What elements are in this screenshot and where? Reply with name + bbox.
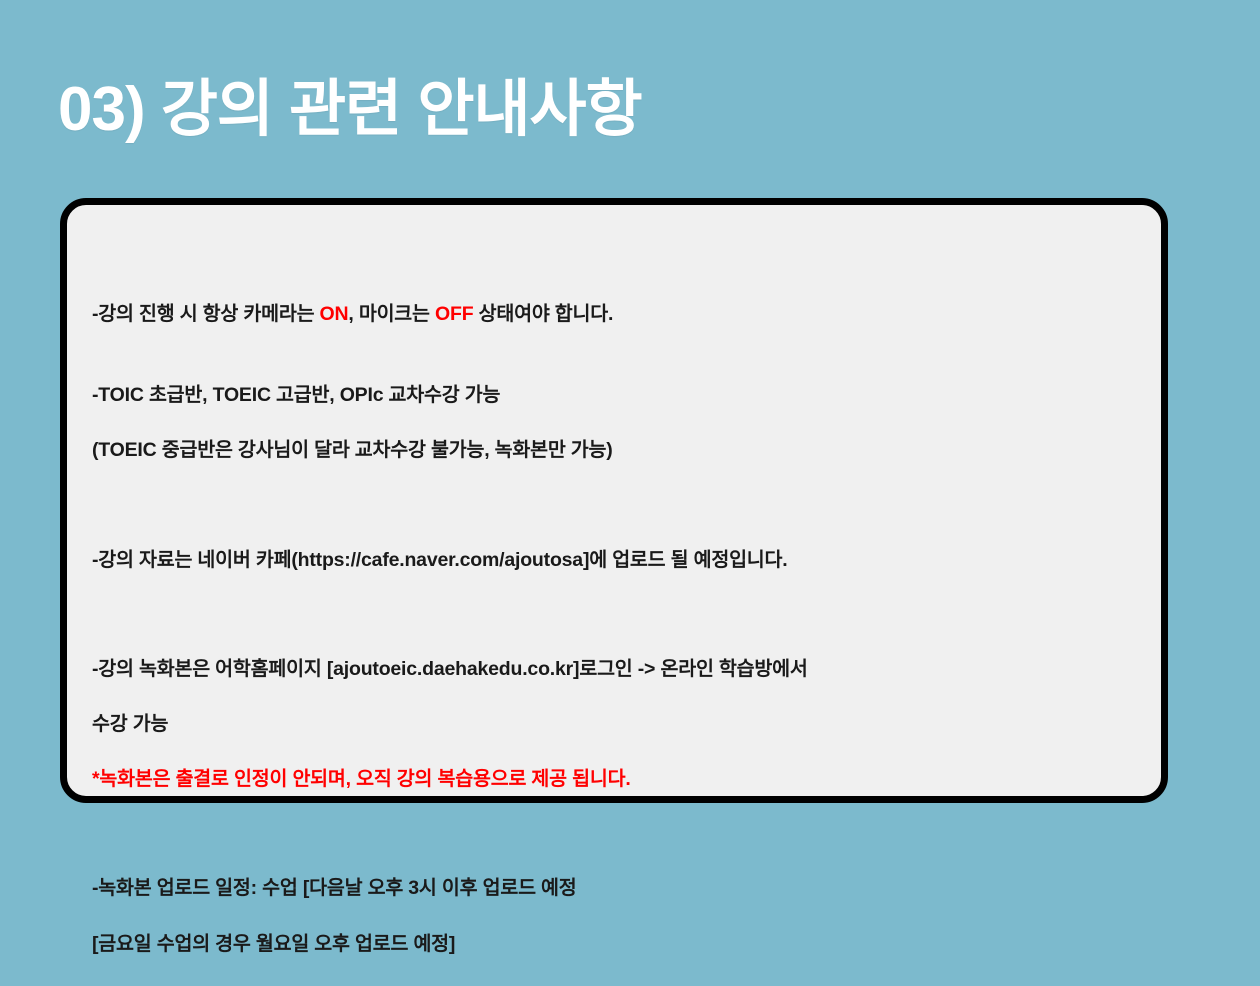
status-badge-on: ON [320,303,349,325]
paragraph-line: [금요일 수업의 경우 월요일 오후 업로드 예정] [92,931,1149,959]
recording-warning-note: *녹화본은 출결로 인정이 안되며, 오직 강의 복습용으로 제공 됩니다. [92,766,1149,794]
text-segment: 상태여야 합니다. [473,303,613,325]
recording-site-url-line: -강의 녹화본은 어학홈페이지 [ajoutoeic.daehakedu.co.… [92,656,1149,684]
naver-cafe-url-line: -강의 자료는 네이버 카페(https://cafe.naver.com/aj… [92,547,1149,575]
paragraph-line: -녹화본 업로드 일정: 수업 [다음날 오후 3시 이후 업로드 예정 [92,875,1149,903]
page-title: 03) 강의 관련 안내사항 [58,76,642,144]
slide-root: 03) 강의 관련 안내사항 -강의 진행 시 항상 카메라는 ON, 마이크는… [0,0,1260,891]
notice-card: -강의 진행 시 항상 카메라는 ON, 마이크는 OFF 상태여야 합니다. … [60,198,1168,803]
text-segment: -강의 진행 시 항상 카메라는 [92,303,320,325]
paragraph-camera-mic-rule: -강의 진행 시 항상 카메라는 ON, 마이크는 OFF 상태여야 합니다. [92,273,1149,328]
status-badge-off: OFF [435,303,473,325]
paragraph-recording-access: -강의 녹화본은 어학홈페이지 [ajoutoeic.daehakedu.co.… [92,628,1149,822]
paragraph-cross-enrollment: -TOIC 초급반, TOEIC 고급반, OPIc 교차수강 가능 (TOEI… [92,354,1149,492]
text-segment: , 마이크는 [348,303,435,325]
paragraph-line: -TOIC 초급반, TOEIC 고급반, OPIc 교차수강 가능 [92,382,1149,410]
paragraph-line: (TOEIC 중급반은 강사님이 달라 교차수강 불가능, 녹화본만 가능) [92,437,1149,465]
notice-card-body: -강의 진행 시 항상 카메라는 ON, 마이크는 OFF 상태여야 합니다. … [92,273,1149,986]
paragraph-materials-cafe: -강의 자료는 네이버 카페(https://cafe.naver.com/aj… [92,519,1149,602]
paragraph-line: 수강 가능 [92,711,1149,739]
paragraph-upload-schedule: -녹화본 업로드 일정: 수업 [다음날 오후 3시 이후 업로드 예정 [금요… [92,848,1149,986]
